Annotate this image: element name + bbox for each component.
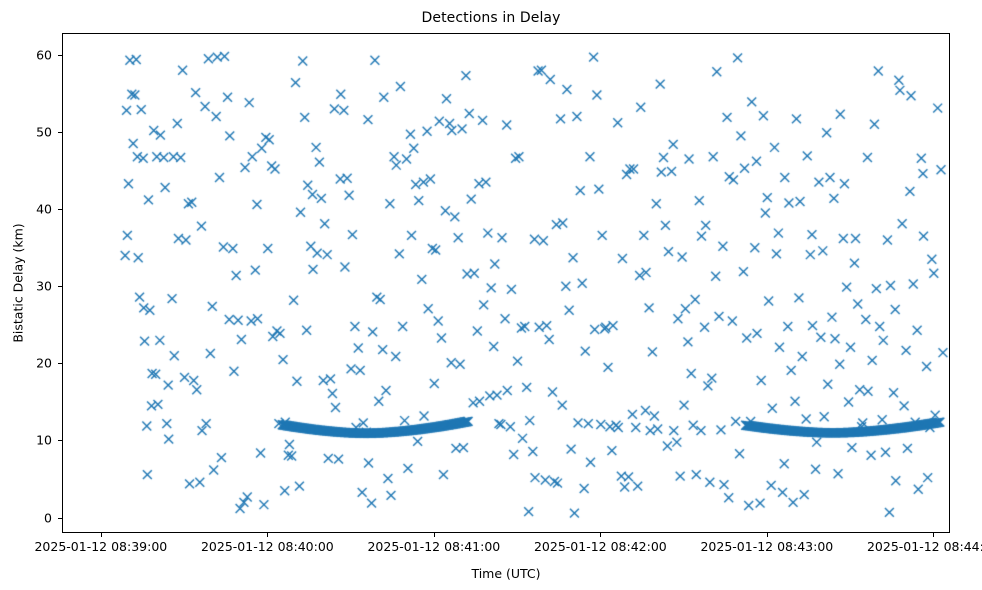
y-tick-label: 30: [0, 279, 52, 294]
y-tick-mark: [58, 132, 62, 133]
y-tick-label: 50: [0, 124, 52, 139]
y-tick-mark: [58, 209, 62, 210]
figure-canvas: Detections in Delay 2025-01-12 08:39:002…: [0, 0, 982, 590]
x-tick-label: 2025-01-12 08:42:00: [534, 539, 667, 554]
x-tick-mark: [434, 533, 435, 537]
y-tick-label: 0: [0, 510, 52, 525]
y-tick-mark: [58, 363, 62, 364]
x-tick-mark: [600, 533, 601, 537]
x-tick-mark: [101, 533, 102, 537]
x-tick-label: 2025-01-12 08:44:00: [867, 539, 982, 554]
x-axis-label: Time (UTC): [62, 566, 950, 581]
x-tick-label: 2025-01-12 08:39:00: [34, 539, 167, 554]
y-tick-label: 40: [0, 201, 52, 216]
x-tick-mark: [933, 533, 934, 537]
y-tick-label: 10: [0, 433, 52, 448]
x-tick-label: 2025-01-12 08:43:00: [700, 539, 833, 554]
plot-axes-frame: [62, 33, 950, 533]
y-tick-mark: [58, 440, 62, 441]
chart-title: Detections in Delay: [0, 10, 982, 26]
x-tick-mark: [767, 533, 768, 537]
scatter-plot-points: [63, 34, 951, 534]
y-tick-label: 20: [0, 356, 52, 371]
x-tick-label: 2025-01-12 08:41:00: [367, 539, 500, 554]
x-tick-label: 2025-01-12 08:40:00: [201, 539, 334, 554]
y-tick-mark: [58, 286, 62, 287]
y-tick-mark: [58, 55, 62, 56]
x-tick-mark: [267, 533, 268, 537]
y-tick-mark: [58, 518, 62, 519]
y-axis-label: Bistatic Delay (km): [11, 223, 26, 342]
y-tick-label: 60: [0, 47, 52, 62]
